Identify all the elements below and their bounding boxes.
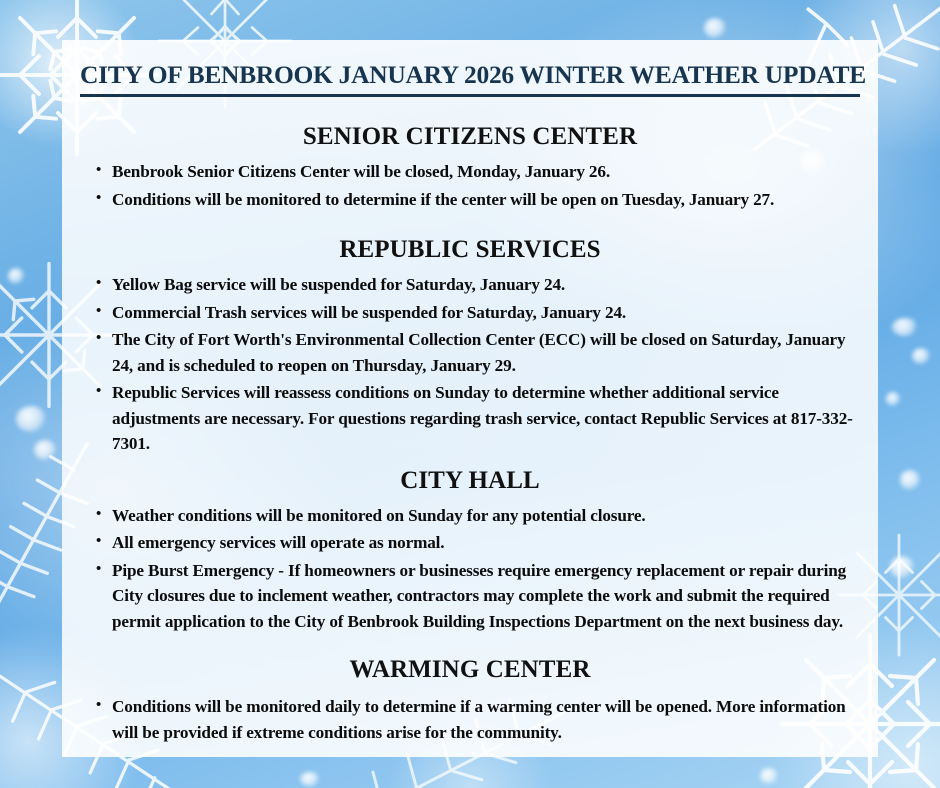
bokeh-dot bbox=[886, 392, 900, 406]
bokeh-dot bbox=[34, 440, 56, 460]
winter-weather-poster: CITY OF BENBROOK JANUARY 2026 WINTER WEA… bbox=[0, 0, 940, 788]
section-heading-republic-services: REPUBLIC SERVICES bbox=[80, 236, 860, 264]
page-title: CITY OF BENBROOK JANUARY 2026 WINTER WEA… bbox=[80, 54, 860, 97]
list-item: Pipe Burst Emergency - If homeowners or … bbox=[96, 558, 860, 635]
content-panel: CITY OF BENBROOK JANUARY 2026 WINTER WEA… bbox=[62, 40, 878, 757]
section-heading-senior-citizens-center: SENIOR CITIZENS CENTER bbox=[80, 123, 860, 151]
bullet-list-republic-services: Yellow Bag service will be suspended for… bbox=[80, 272, 860, 457]
list-item: The City of Fort Worth's Environmental C… bbox=[96, 327, 860, 378]
bokeh-dot bbox=[892, 318, 918, 336]
list-item: Commercial Trash services will be suspen… bbox=[96, 300, 860, 326]
list-item: Republic Services will reassess conditio… bbox=[96, 380, 860, 457]
bokeh-dot bbox=[760, 768, 778, 784]
list-item: Benbrook Senior Citizens Center will be … bbox=[96, 159, 860, 185]
bokeh-dot bbox=[16, 406, 46, 432]
bullet-list-city-hall: Weather conditions will be monitored on … bbox=[80, 503, 860, 635]
bokeh-dot bbox=[912, 348, 930, 364]
bokeh-dot bbox=[300, 772, 320, 786]
bokeh-dot bbox=[8, 268, 24, 284]
list-item: All emergency services will operate as n… bbox=[96, 530, 860, 556]
bokeh-dot bbox=[890, 556, 914, 578]
bokeh-dot bbox=[900, 470, 920, 490]
list-item: Conditions will be monitored to determin… bbox=[96, 187, 860, 213]
section-heading-city-hall: CITY HALL bbox=[80, 467, 860, 495]
list-item: Conditions will be monitored daily to de… bbox=[96, 694, 860, 745]
bullet-list-senior-citizens-center: Benbrook Senior Citizens Center will be … bbox=[80, 159, 860, 212]
bokeh-dot bbox=[704, 18, 726, 38]
bullet-list-warming-center: Conditions will be monitored daily to de… bbox=[80, 694, 860, 745]
list-item: Yellow Bag service will be suspended for… bbox=[96, 272, 860, 298]
section-heading-warming-center: WARMING CENTER bbox=[80, 656, 860, 684]
list-item: Weather conditions will be monitored on … bbox=[96, 503, 860, 529]
